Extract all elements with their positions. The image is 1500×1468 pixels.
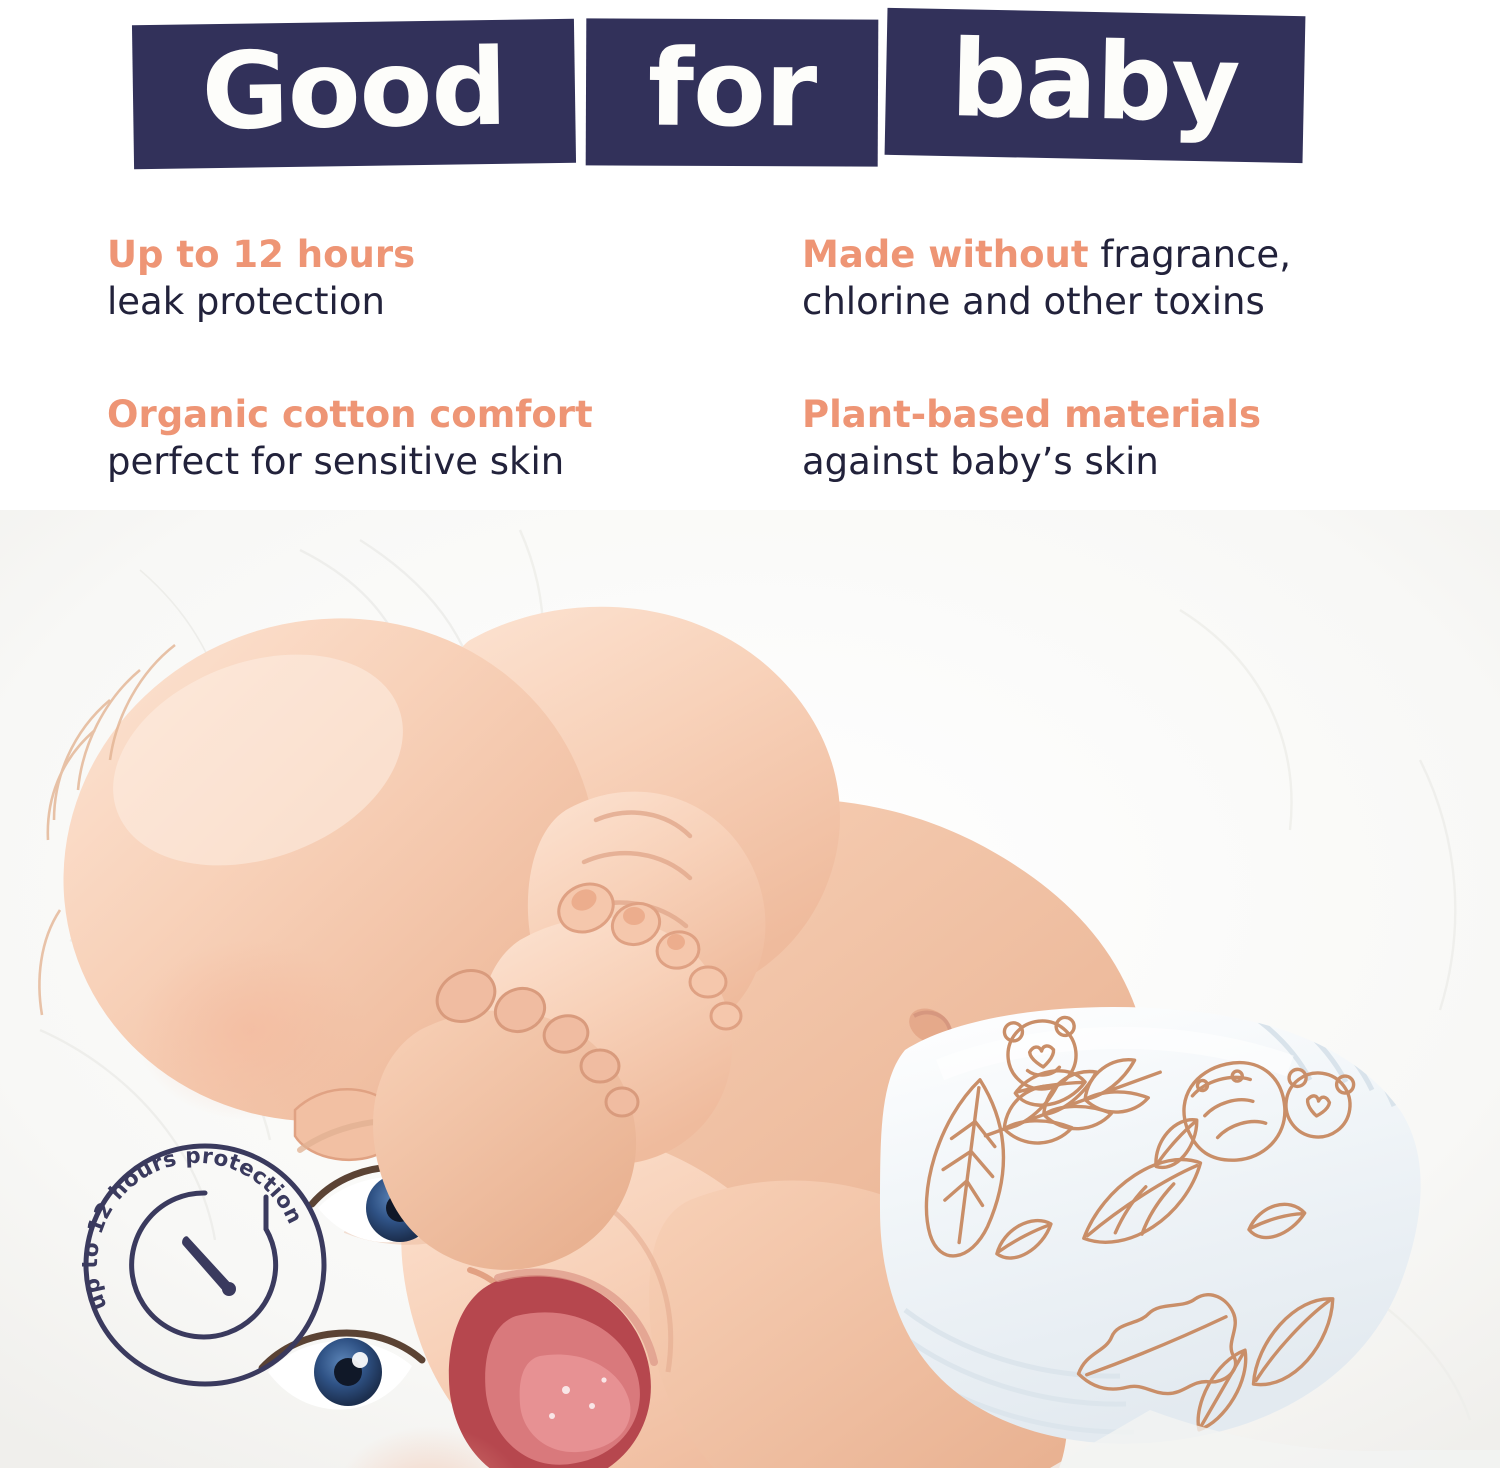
feature-item-made-without: Made without fragrance, chlorine and oth… [802,231,1402,326]
badge-graphic: up to 12 hours protection [82,1142,328,1388]
twelve-hour-protection-badge: up to 12 hours protection [82,1142,328,1388]
feature-detail: perfect for sensitive skin [107,440,564,483]
headline-word-good: Good [132,19,576,170]
feature-highlight: Plant-based materials [802,393,1261,436]
feature-detail: against baby’s skin [802,440,1159,483]
clock-needle-hub [222,1282,236,1296]
feature-list: Up to 12 hours leak protection Made with… [0,215,1500,505]
headline-word-baby-label: baby [950,26,1240,138]
headline-word-good-label: Good [201,35,507,146]
feature-highlight: Organic cotton comfort [107,393,593,436]
headline-word-for-label: for [648,35,817,142]
headline-word-for: for [586,18,879,166]
feature-item-organic-cotton: Organic cotton comfort perfect for sensi… [107,391,727,486]
feature-item-leak-protection: Up to 12 hours leak protection [107,231,707,326]
feature-detail: leak protection [107,280,385,323]
headline-word-baby: baby [885,8,1306,163]
product-feature-panel: Good for baby Up to 12 hours leak protec… [0,0,1500,1468]
feature-highlight: Made without [802,233,1089,276]
feature-highlight: Up to 12 hours [107,233,415,276]
headline-banner: Good for baby [0,0,1500,200]
feature-item-plant-based: Plant-based materials against baby’s ski… [802,391,1402,486]
